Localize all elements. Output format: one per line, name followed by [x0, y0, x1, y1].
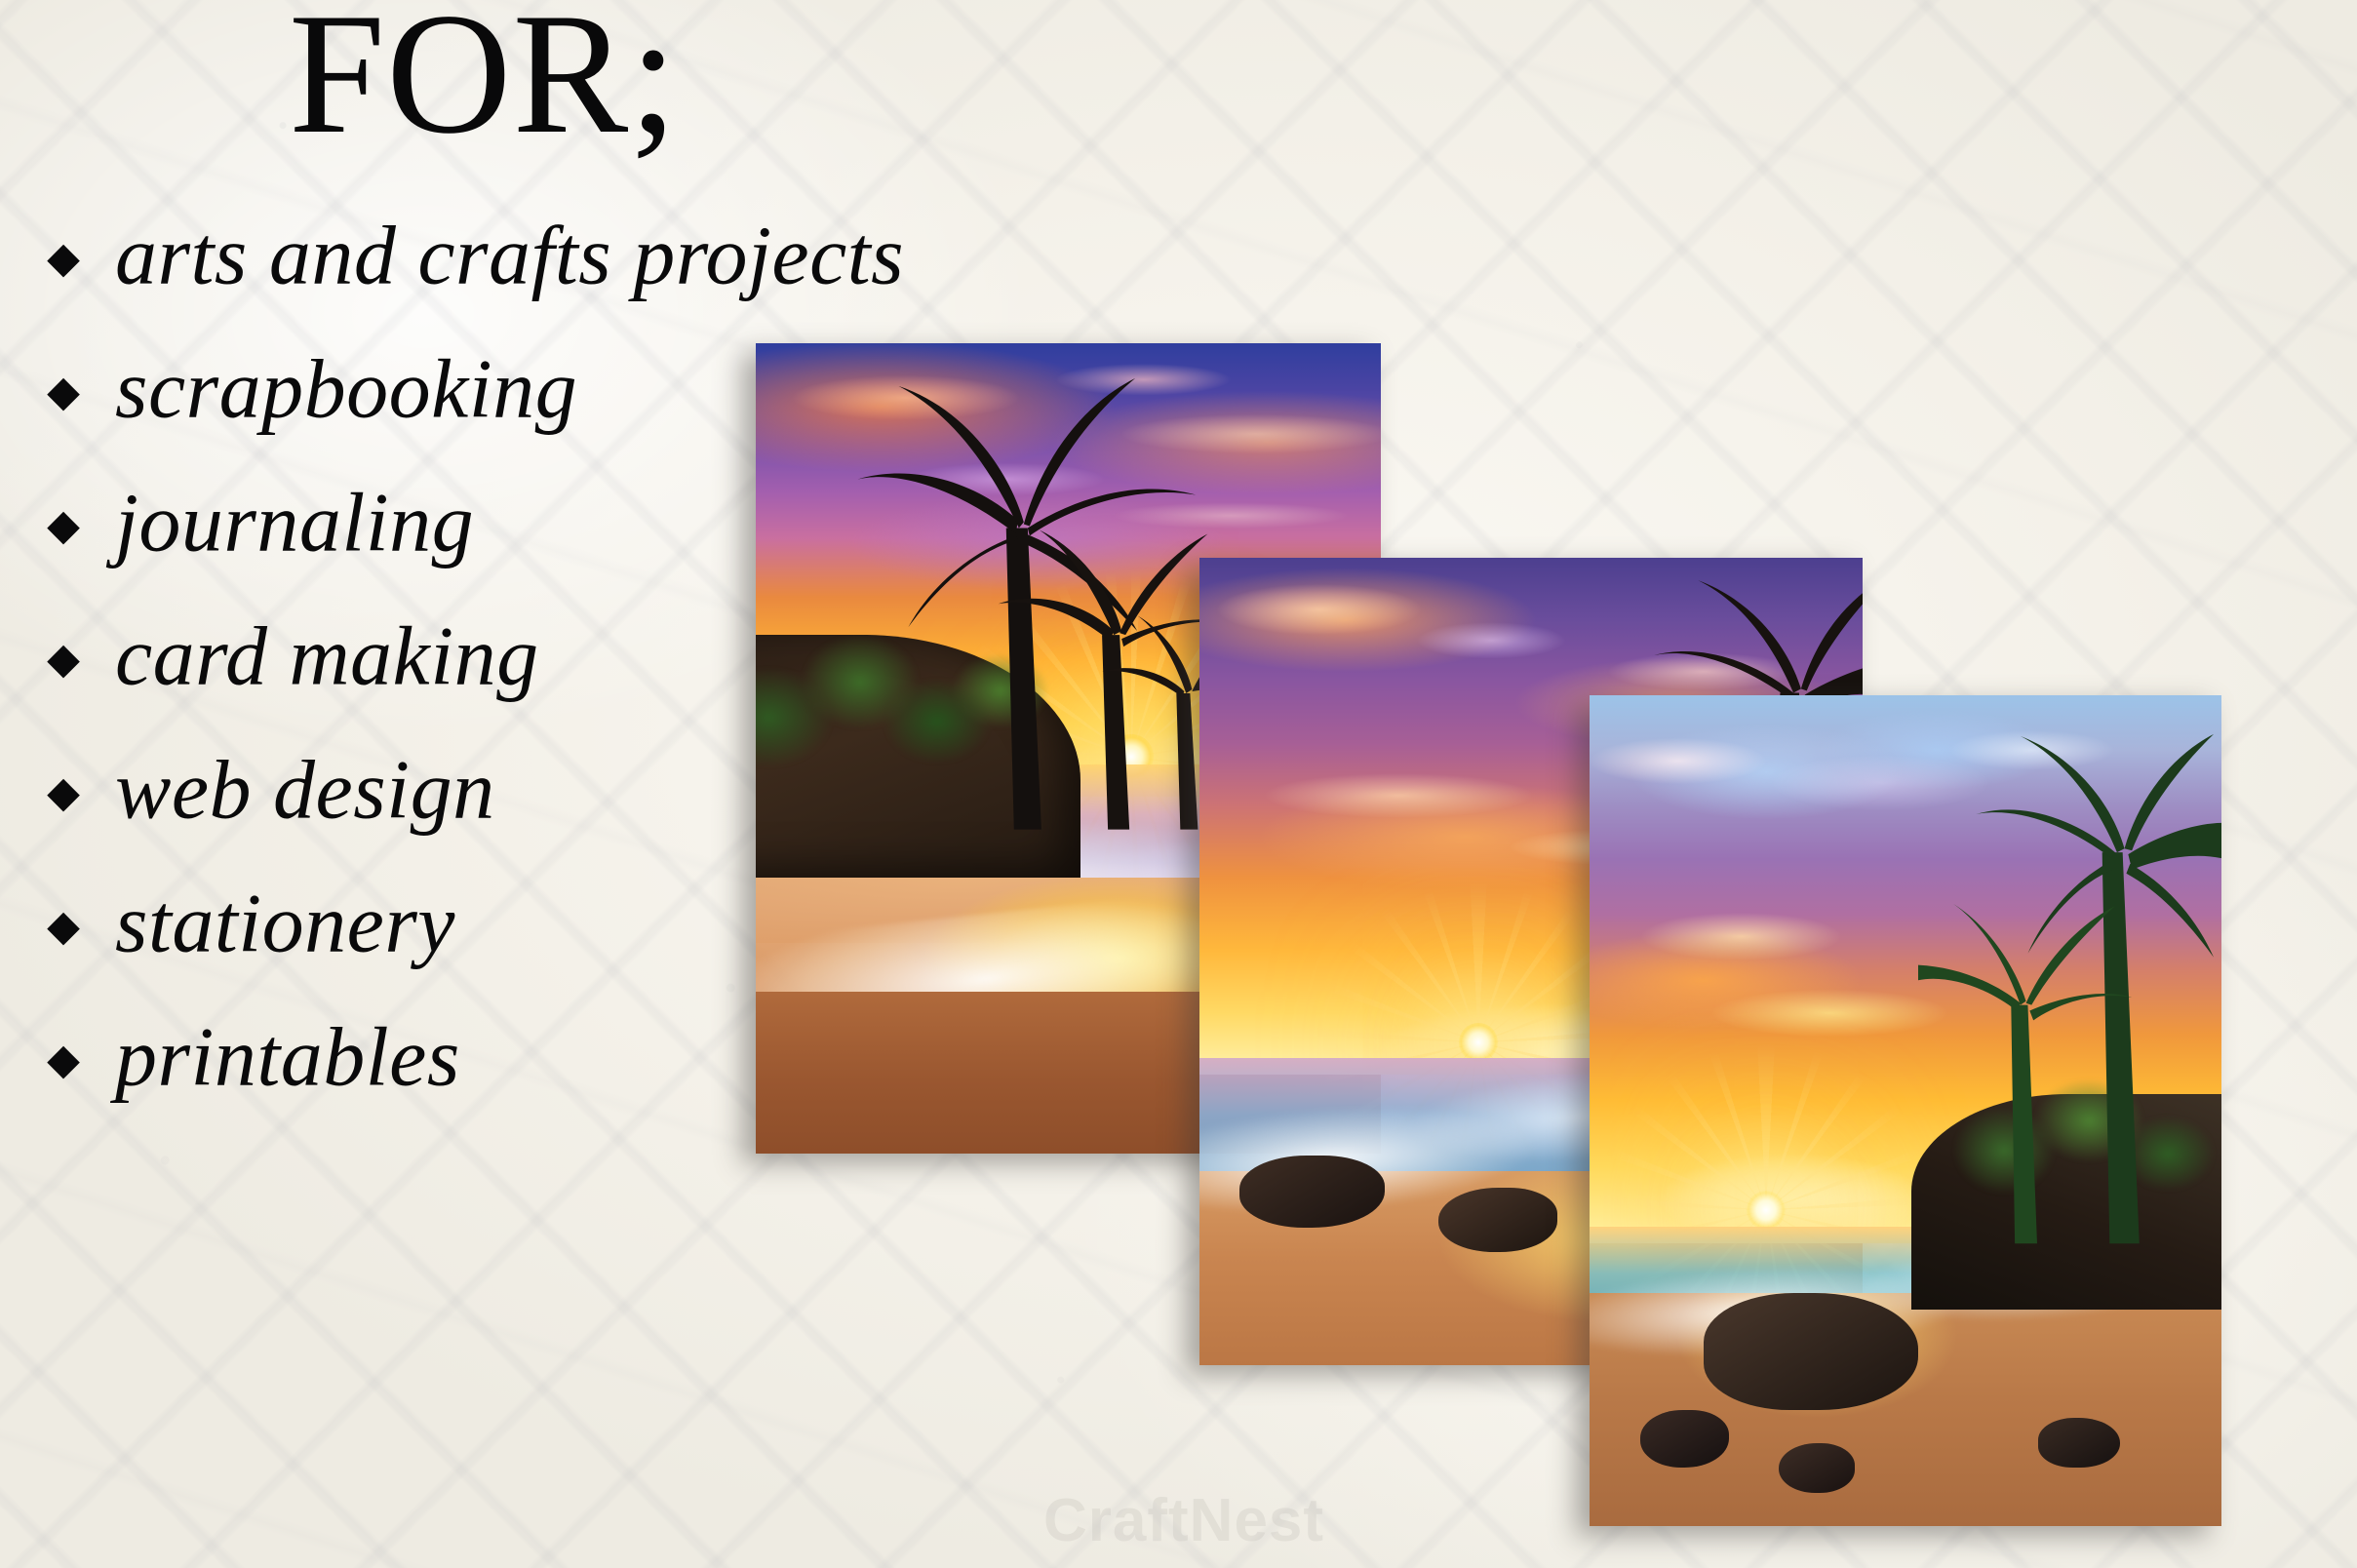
- poster-canvas: FOR; ◆ arts and crafts projects ◆ scrapb…: [0, 0, 2357, 1568]
- diamond-bullet-icon: ◆: [46, 374, 81, 410]
- list-item: ◆ journaling: [0, 458, 770, 592]
- gallery-photo-3: [1590, 695, 2221, 1526]
- palm-tree-icon: [1918, 728, 2221, 1243]
- page-title: FOR;: [289, 0, 679, 160]
- watermark-text: CraftNest: [1043, 1486, 1324, 1555]
- diamond-bullet-icon: ◆: [46, 775, 81, 810]
- list-item: ◆ printables: [0, 993, 770, 1126]
- list-item: ◆ stationery: [0, 859, 770, 993]
- list-item-label: scrapbooking: [115, 346, 577, 430]
- rock-silhouette: [1239, 1156, 1386, 1229]
- rock-silhouette: [1438, 1188, 1557, 1252]
- rock-silhouette: [2038, 1418, 2120, 1468]
- sun-glow: [1459, 1023, 1498, 1062]
- list-item-label: journaling: [115, 480, 474, 564]
- diamond-bullet-icon: ◆: [46, 508, 81, 543]
- list-item: ◆ scrapbooking: [0, 325, 770, 458]
- usage-bullet-list: ◆ arts and crafts projects ◆ scrapbookin…: [0, 191, 770, 1126]
- text-column: FOR; ◆ arts and crafts projects ◆ scrapb…: [0, 0, 770, 1568]
- list-item: ◆ card making: [0, 592, 770, 725]
- list-item: ◆ arts and crafts projects: [0, 191, 770, 325]
- palm-tree-icon: [781, 343, 1232, 830]
- diamond-bullet-icon: ◆: [46, 1042, 81, 1078]
- list-item-label: arts and crafts projects: [115, 213, 904, 296]
- list-item-label: printables: [115, 1014, 460, 1098]
- rock-silhouette: [1779, 1443, 1855, 1493]
- diamond-bullet-icon: ◆: [46, 909, 81, 944]
- list-item-label: web design: [115, 747, 495, 831]
- rock-silhouette: [1640, 1410, 1729, 1469]
- rock-silhouette: [1704, 1293, 1918, 1409]
- diamond-bullet-icon: ◆: [46, 642, 81, 677]
- list-item-label: card making: [115, 613, 539, 697]
- list-item: ◆ web design: [0, 725, 770, 859]
- list-item-label: stationery: [115, 881, 455, 964]
- diamond-bullet-icon: ◆: [46, 241, 81, 276]
